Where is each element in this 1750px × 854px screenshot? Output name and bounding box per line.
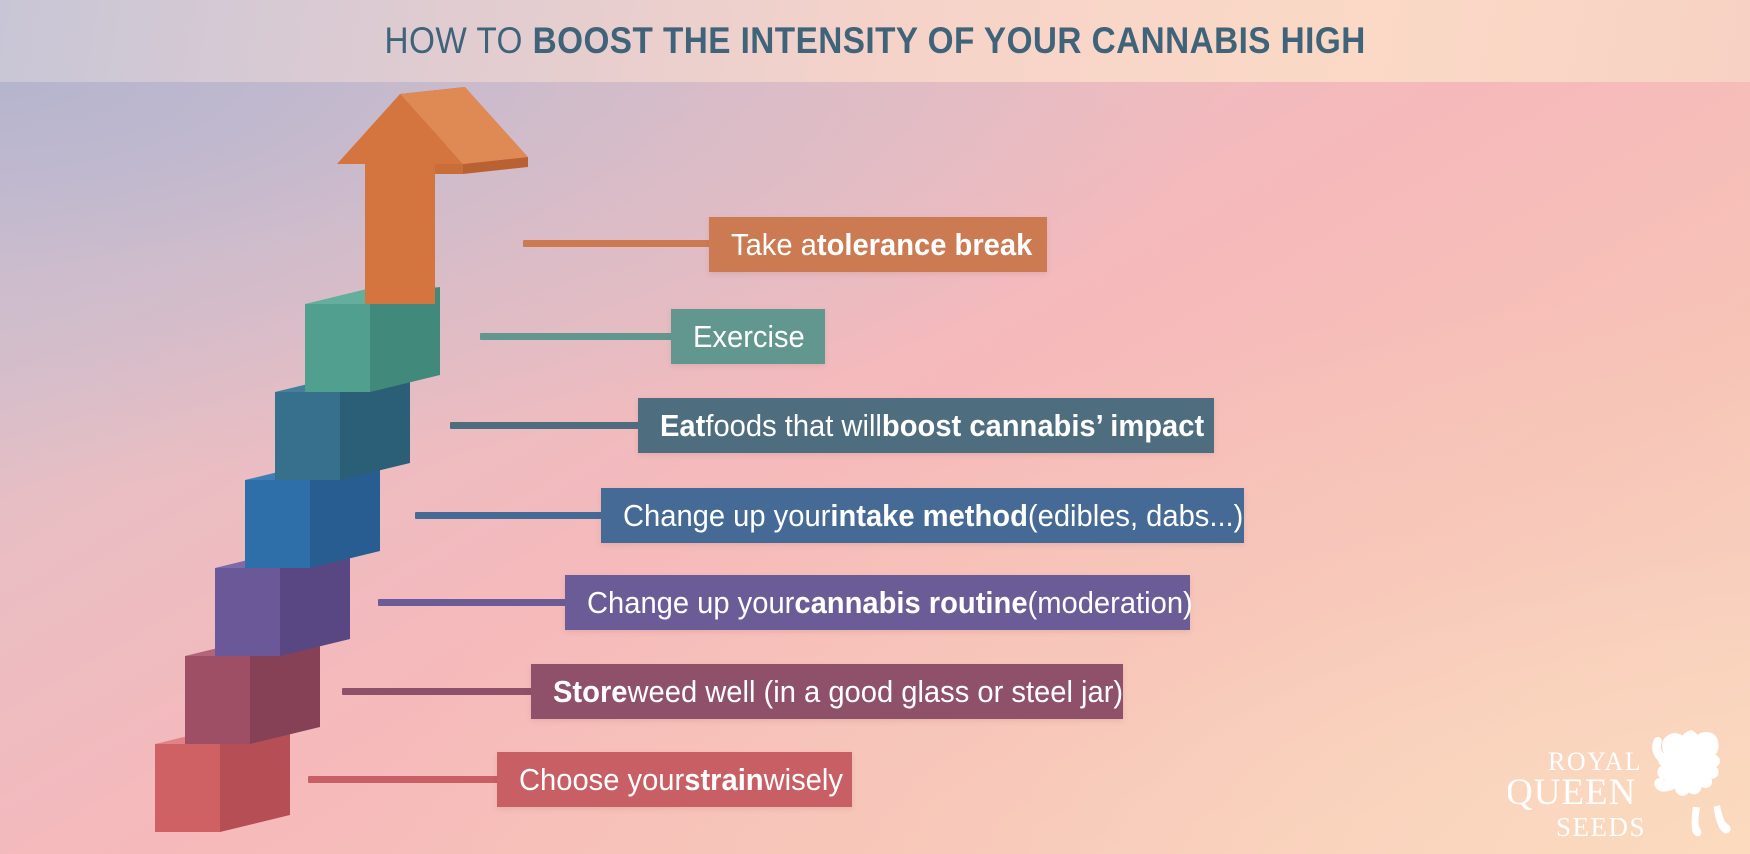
lion-icon: [1652, 730, 1730, 836]
label-segment: foods that will: [705, 410, 882, 441]
label-segment: Store: [553, 676, 627, 707]
label-segment: Eat: [660, 410, 705, 441]
connector-line-change-intake-method: [415, 512, 605, 519]
connector-line-store-weed-well: [342, 688, 535, 695]
label-text-tolerance-break: Take a tolerance break: [731, 229, 1032, 260]
logo-line3: SEEDS: [1556, 812, 1646, 842]
label-segment: Exercise: [693, 321, 805, 352]
label-text-change-intake-method: Change up your intake method (edibles, d…: [623, 500, 1243, 531]
label-box-change-intake-method[interactable]: Change up your intake method (edibles, d…: [601, 488, 1244, 543]
label-segment: (edibles, dabs...): [1028, 500, 1243, 531]
connector-line-tolerance-break: [523, 240, 713, 247]
connector-line-exercise: [480, 333, 675, 340]
label-segment: wisely: [764, 764, 843, 795]
label-text-store-weed-well: Store weed well (in a good glass or stee…: [553, 676, 1123, 707]
label-segment: Choose your: [519, 764, 684, 795]
label-segment: intake method: [830, 500, 1028, 531]
label-box-change-cannabis-routine[interactable]: Change up your cannabis routine (moderat…: [565, 575, 1190, 630]
label-text-exercise: Exercise: [693, 321, 805, 352]
label-box-store-weed-well[interactable]: Store weed well (in a good glass or stee…: [531, 664, 1123, 719]
page-title-light: HOW TO: [384, 20, 532, 61]
infographic-stage: Take a tolerance breakExerciseEat foods …: [0, 82, 1750, 854]
label-segment: (moderation): [1028, 587, 1193, 618]
header-bar: HOW TO BOOST THE INTENSITY OF YOUR CANNA…: [0, 0, 1750, 82]
ascending-3d-staircase: [0, 82, 560, 854]
step-7-tolerance-arrow: [337, 87, 528, 304]
label-text-eat-boosting-foods: Eat foods that will boost cannabis’ impa…: [660, 410, 1204, 441]
infographic-page: HOW TO BOOST THE INTENSITY OF YOUR CANNA…: [0, 0, 1750, 854]
page-title: HOW TO BOOST THE INTENSITY OF YOUR CANNA…: [384, 20, 1365, 62]
label-segment: Change up your: [587, 587, 794, 618]
page-title-bold: BOOST THE INTENSITY OF YOUR CANNABIS HIG…: [532, 20, 1365, 61]
label-text-change-cannabis-routine: Change up your cannabis routine (moderat…: [587, 587, 1193, 618]
label-segment: tolerance break: [817, 229, 1032, 260]
label-segment: boost cannabis’ impact: [882, 410, 1204, 441]
royal-queen-seeds-logo: ROYAL QUEEN SEEDS: [1508, 722, 1736, 848]
label-box-eat-boosting-foods[interactable]: Eat foods that will boost cannabis’ impa…: [638, 398, 1214, 453]
connector-line-eat-boosting-foods: [450, 422, 642, 429]
connector-line-choose-strain-wisely: [308, 776, 501, 783]
label-segment: weed well (in a good glass or steel jar): [627, 676, 1123, 707]
logo-line2: QUEEN: [1508, 772, 1636, 813]
label-box-exercise[interactable]: Exercise: [671, 309, 825, 364]
label-segment: Take a: [731, 229, 817, 260]
label-box-tolerance-break[interactable]: Take a tolerance break: [709, 217, 1047, 272]
connector-line-change-cannabis-routine: [378, 599, 569, 606]
label-text-choose-strain-wisely: Choose your strain wisely: [519, 764, 843, 795]
label-segment: Change up your: [623, 500, 830, 531]
label-segment: strain: [684, 764, 763, 795]
label-segment: cannabis routine: [794, 587, 1027, 618]
label-box-choose-strain-wisely[interactable]: Choose your strain wisely: [497, 752, 852, 807]
